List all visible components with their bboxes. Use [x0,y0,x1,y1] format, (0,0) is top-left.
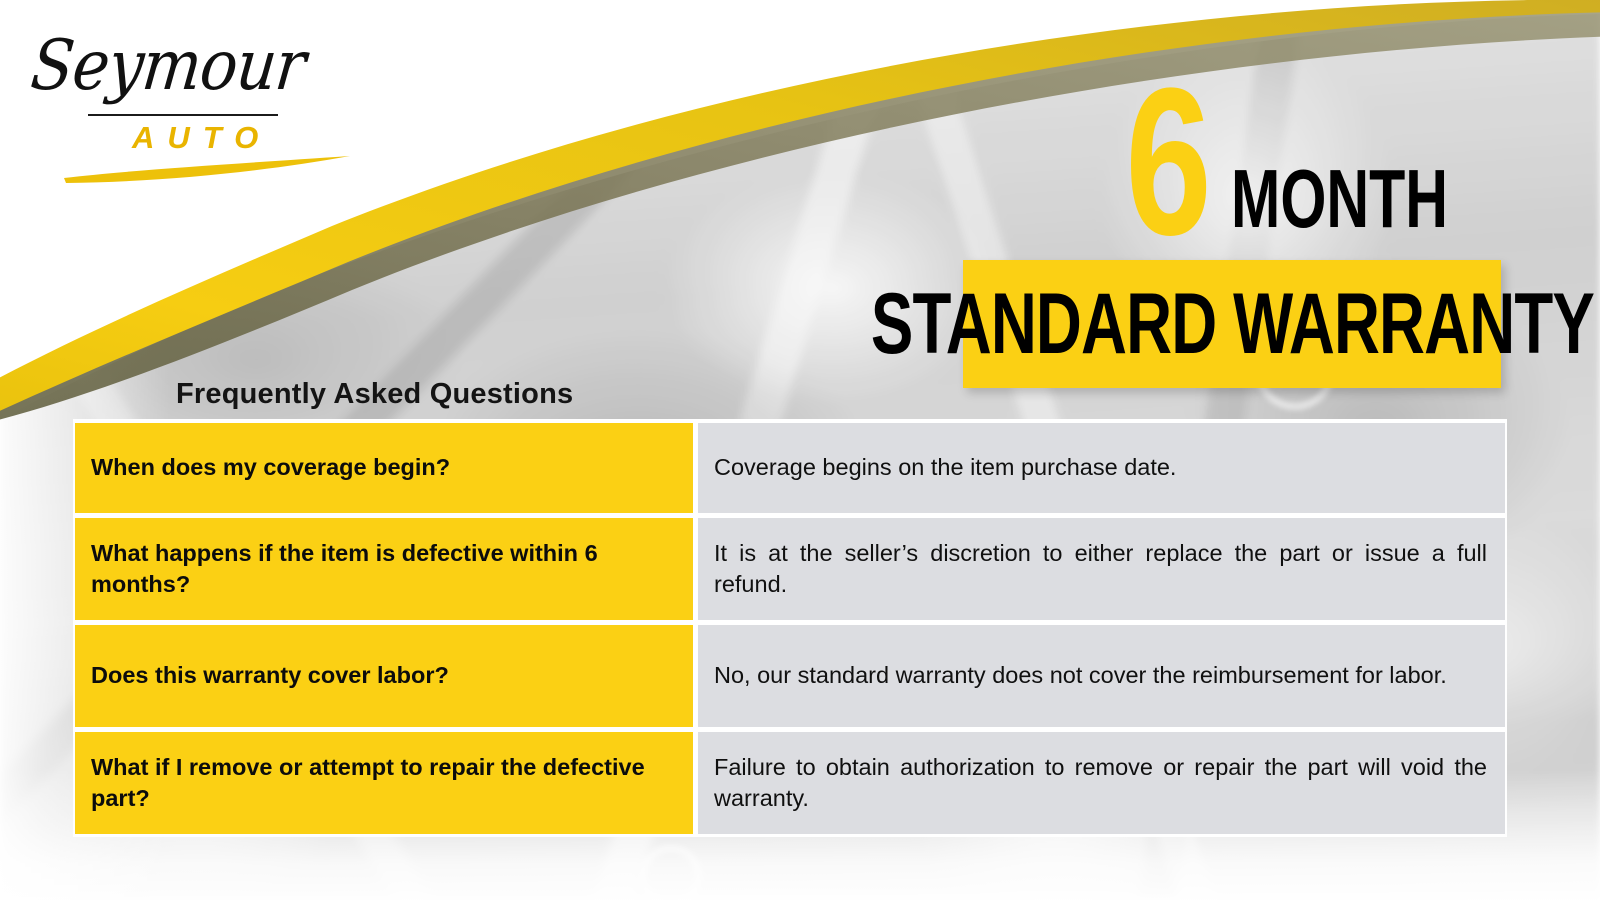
table-row: What happens if the item is defective wi… [75,518,1505,620]
faq-table: When does my coverage begin? Coverage be… [73,419,1507,837]
brand-subtitle-auto: AUTO [132,120,271,156]
faq-answer-text: No, our standard warranty does not cover… [714,660,1487,691]
standard-warranty-label: STANDARD WARRANTY [870,281,1593,367]
faq-answer-cell: No, our standard warranty does not cover… [698,625,1505,727]
brand-swish-icon [62,154,352,184]
faq-question-cell: What happens if the item is defective wi… [75,518,693,620]
duration-number: 6 [1125,78,1208,246]
brand-name-script: Seymour [27,24,308,106]
table-row: What if I remove or attempt to repair th… [75,732,1505,834]
brand-underline [88,114,278,116]
duration-unit: MONTH [1231,164,1448,246]
faq-answer-cell: It is at the seller’s discretion to eith… [698,518,1505,620]
faq-answer-text: It is at the seller’s discretion to eith… [714,538,1487,601]
faq-question-cell: When does my coverage begin? [75,423,693,513]
table-row: When does my coverage begin? Coverage be… [75,423,1505,513]
faq-question-cell: Does this warranty cover labor? [75,625,693,727]
faq-answer-text: Failure to obtain authorization to remov… [714,752,1487,815]
faq-section-title: Frequently Asked Questions [176,378,573,411]
faq-answer-cell: Coverage begins on the item purchase dat… [698,423,1505,513]
standard-warranty-banner: STANDARD WARRANTY [963,260,1501,388]
brand-logo: Seymour AUTO [28,22,338,182]
faq-answer-text: Coverage begins on the item purchase dat… [714,452,1487,483]
warranty-slide: Seymour AUTO 6 MONTH STANDARD WARRANTY F… [0,0,1600,900]
faq-answer-cell: Failure to obtain authorization to remov… [698,732,1505,834]
faq-question-cell: What if I remove or attempt to repair th… [75,732,693,834]
warranty-duration-headline: 6 MONTH [1096,78,1502,246]
table-row: Does this warranty cover labor? No, our … [75,625,1505,727]
